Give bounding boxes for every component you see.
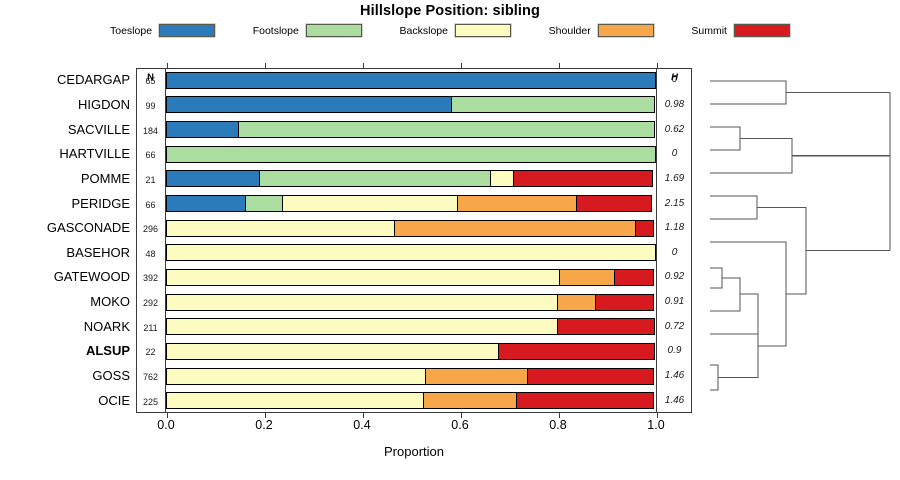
- x-tick-label-0.6: 0.6: [451, 418, 468, 432]
- legend-item-summit[interactable]: Summit: [691, 24, 790, 37]
- bar-segment-footslope[interactable]: [238, 121, 655, 138]
- bar-segment-toeslope[interactable]: [166, 121, 239, 138]
- category-label-hartville: HARTVILLE: [0, 147, 136, 160]
- bar-segment-summit[interactable]: [635, 220, 654, 237]
- category-label-sacville: SACVILLE: [0, 123, 136, 136]
- page-title: Hillslope Position: sibling: [0, 3, 900, 19]
- bar-segment-backslope[interactable]: [166, 244, 656, 261]
- bar-pomme[interactable]: [166, 170, 656, 187]
- n-value-basehor: 48: [136, 249, 165, 259]
- bar-hartville[interactable]: [166, 146, 656, 163]
- n-value-moko: 292: [136, 298, 165, 308]
- x-axis-title: Proportion: [136, 444, 692, 459]
- n-value-sacville: 184: [136, 126, 165, 136]
- bar-segment-summit[interactable]: [614, 269, 654, 286]
- x-tick-label-0.8: 0.8: [549, 418, 566, 432]
- dendro-link-e-alsup: [710, 294, 758, 334]
- h-value-gatewood: 0.92: [657, 271, 692, 282]
- bar-segment-summit[interactable]: [513, 170, 653, 187]
- n-value-cedargap: 65: [136, 76, 165, 86]
- dendro-link-goss-ocie: [710, 365, 718, 390]
- bar-segment-shoulder[interactable]: [557, 294, 596, 311]
- h-column: H 00.980.6201.692.151.1800.920.910.720.9…: [656, 68, 692, 413]
- bar-segment-summit[interactable]: [527, 368, 653, 385]
- dendro-link-gatewood-moko: [710, 268, 722, 288]
- bar-segment-footslope[interactable]: [451, 96, 655, 113]
- bar-segment-footslope[interactable]: [245, 195, 283, 212]
- x-tick-label-1.0: 1.0: [647, 418, 664, 432]
- category-label-moko: MOKO: [0, 295, 136, 308]
- bar-segment-footslope[interactable]: [166, 146, 656, 163]
- bar-cedargap[interactable]: [166, 72, 656, 89]
- n-value-alsup: 22: [136, 347, 165, 357]
- legend-item-footslope[interactable]: Footslope: [253, 24, 362, 37]
- dendro-link-sacville-hartville: [710, 127, 740, 150]
- bar-segment-footslope[interactable]: [259, 170, 491, 187]
- legend-swatch-summit: [734, 24, 790, 37]
- bar-gasconade[interactable]: [166, 220, 656, 237]
- category-label-ocie: OCIE: [0, 394, 136, 407]
- h-value-goss: 1.46: [657, 370, 692, 381]
- legend-swatch-backslope: [455, 24, 511, 37]
- category-label-gasconade: GASCONADE: [0, 221, 136, 234]
- h-value-peridge: 2.15: [657, 198, 692, 209]
- bar-peridge[interactable]: [166, 195, 656, 212]
- bar-segment-toeslope[interactable]: [166, 170, 261, 187]
- bar-segment-summit[interactable]: [595, 294, 654, 311]
- dendro-link-d-noark: [710, 278, 740, 311]
- category-label-goss: GOSS: [0, 369, 136, 382]
- category-label-alsup: ALSUP: [0, 344, 136, 357]
- dendro-link-c-lower: [757, 208, 806, 295]
- h-value-gasconade: 1.18: [657, 222, 692, 233]
- bar-basehor[interactable]: [166, 244, 656, 261]
- bar-gatewood[interactable]: [166, 269, 656, 286]
- category-label-basehor: BASEHOR: [0, 246, 136, 259]
- dendro-link-peridge-gasconade: [710, 196, 757, 219]
- n-value-higdon: 99: [136, 101, 165, 111]
- bar-segment-backslope[interactable]: [490, 170, 514, 187]
- bar-segment-summit[interactable]: [498, 343, 655, 360]
- n-value-peridge: 66: [136, 200, 165, 210]
- category-label-higdon: HIGDON: [0, 98, 136, 111]
- bar-ocie[interactable]: [166, 392, 656, 409]
- bar-segment-shoulder[interactable]: [394, 220, 636, 237]
- category-label-gatewood: GATEWOOD: [0, 270, 136, 283]
- legend-item-toeslope[interactable]: Toeslope: [110, 24, 215, 37]
- bar-segment-shoulder[interactable]: [457, 195, 577, 212]
- category-label-cedargap: CEDARGAP: [0, 73, 136, 86]
- h-value-moko: 0.91: [657, 296, 692, 307]
- h-value-noark: 0.72: [657, 321, 692, 332]
- bar-segment-backslope[interactable]: [166, 220, 395, 237]
- legend-swatch-shoulder: [598, 24, 654, 37]
- n-value-gasconade: 296: [136, 224, 165, 234]
- dendro-link-b-pomme: [710, 139, 792, 174]
- h-value-alsup: 0.9: [657, 345, 692, 356]
- dendrogram: [700, 60, 895, 420]
- h-value-basehor: 0: [657, 247, 692, 258]
- bar-segment-toeslope[interactable]: [166, 195, 246, 212]
- dendro-link-top: [786, 93, 890, 156]
- bar-segment-shoulder[interactable]: [423, 392, 517, 409]
- h-value-hartville: 0: [657, 148, 692, 159]
- legend-label: Backslope: [400, 25, 448, 37]
- dendro-link-cedargap-higdon: [710, 81, 786, 104]
- bar-segment-backslope[interactable]: [166, 392, 424, 409]
- bar-sacville[interactable]: [166, 121, 656, 138]
- h-value-higdon: 0.98: [657, 99, 692, 110]
- category-label-pomme: POMME: [0, 172, 136, 185]
- legend-item-shoulder[interactable]: Shoulder: [549, 24, 654, 37]
- stacked-bars: [166, 68, 656, 413]
- x-tick-label-0.4: 0.4: [353, 418, 370, 432]
- bar-segment-backslope[interactable]: [166, 318, 558, 335]
- legend: Toeslope Footslope Backslope Shoulder Su…: [110, 24, 790, 37]
- bar-segment-toeslope[interactable]: [166, 96, 452, 113]
- category-label-noark: NOARK: [0, 320, 136, 333]
- bar-segment-backslope[interactable]: [166, 368, 426, 385]
- dendrogram-svg: [700, 60, 895, 420]
- n-column: N 65991846621662964839229221122762225: [136, 68, 166, 413]
- bar-segment-backslope[interactable]: [166, 269, 560, 286]
- legend-swatch-footslope: [306, 24, 362, 37]
- bar-segment-backslope[interactable]: [282, 195, 458, 212]
- category-label-peridge: PERIDGE: [0, 197, 136, 210]
- n-value-ocie: 225: [136, 397, 165, 407]
- n-value-goss: 762: [136, 372, 165, 382]
- bar-goss[interactable]: [166, 368, 656, 385]
- bar-higdon[interactable]: [166, 96, 656, 113]
- x-tick-label-0.0: 0.0: [157, 418, 174, 432]
- bar-segment-summit[interactable]: [576, 195, 652, 212]
- bar-alsup[interactable]: [166, 343, 656, 360]
- legend-item-backslope[interactable]: Backslope: [400, 24, 511, 37]
- legend-swatch-toeslope: [159, 24, 215, 37]
- legend-label: Summit: [691, 25, 727, 37]
- bar-segment-toeslope[interactable]: [166, 72, 656, 89]
- legend-label: Toeslope: [110, 25, 152, 37]
- bar-noark[interactable]: [166, 318, 656, 335]
- h-value-cedargap: 0: [657, 74, 692, 85]
- h-value-sacville: 0.62: [657, 124, 692, 135]
- x-tick-label-0.2: 0.2: [255, 418, 272, 432]
- n-value-pomme: 21: [136, 175, 165, 185]
- bar-segment-summit[interactable]: [516, 392, 654, 409]
- bar-segment-summit[interactable]: [557, 318, 655, 335]
- bar-moko[interactable]: [166, 294, 656, 311]
- legend-label: Shoulder: [549, 25, 591, 37]
- legend-label: Footslope: [253, 25, 299, 37]
- dendro-link-f-g: [718, 314, 758, 378]
- n-value-noark: 211: [136, 323, 165, 333]
- bar-segment-backslope[interactable]: [166, 294, 558, 311]
- bar-segment-shoulder[interactable]: [425, 368, 529, 385]
- n-value-hartville: 66: [136, 150, 165, 160]
- bar-segment-backslope[interactable]: [166, 343, 499, 360]
- n-value-gatewood: 392: [136, 273, 165, 283]
- bar-segment-shoulder[interactable]: [559, 269, 615, 286]
- h-value-ocie: 1.46: [657, 395, 692, 406]
- h-value-pomme: 1.69: [657, 173, 692, 184]
